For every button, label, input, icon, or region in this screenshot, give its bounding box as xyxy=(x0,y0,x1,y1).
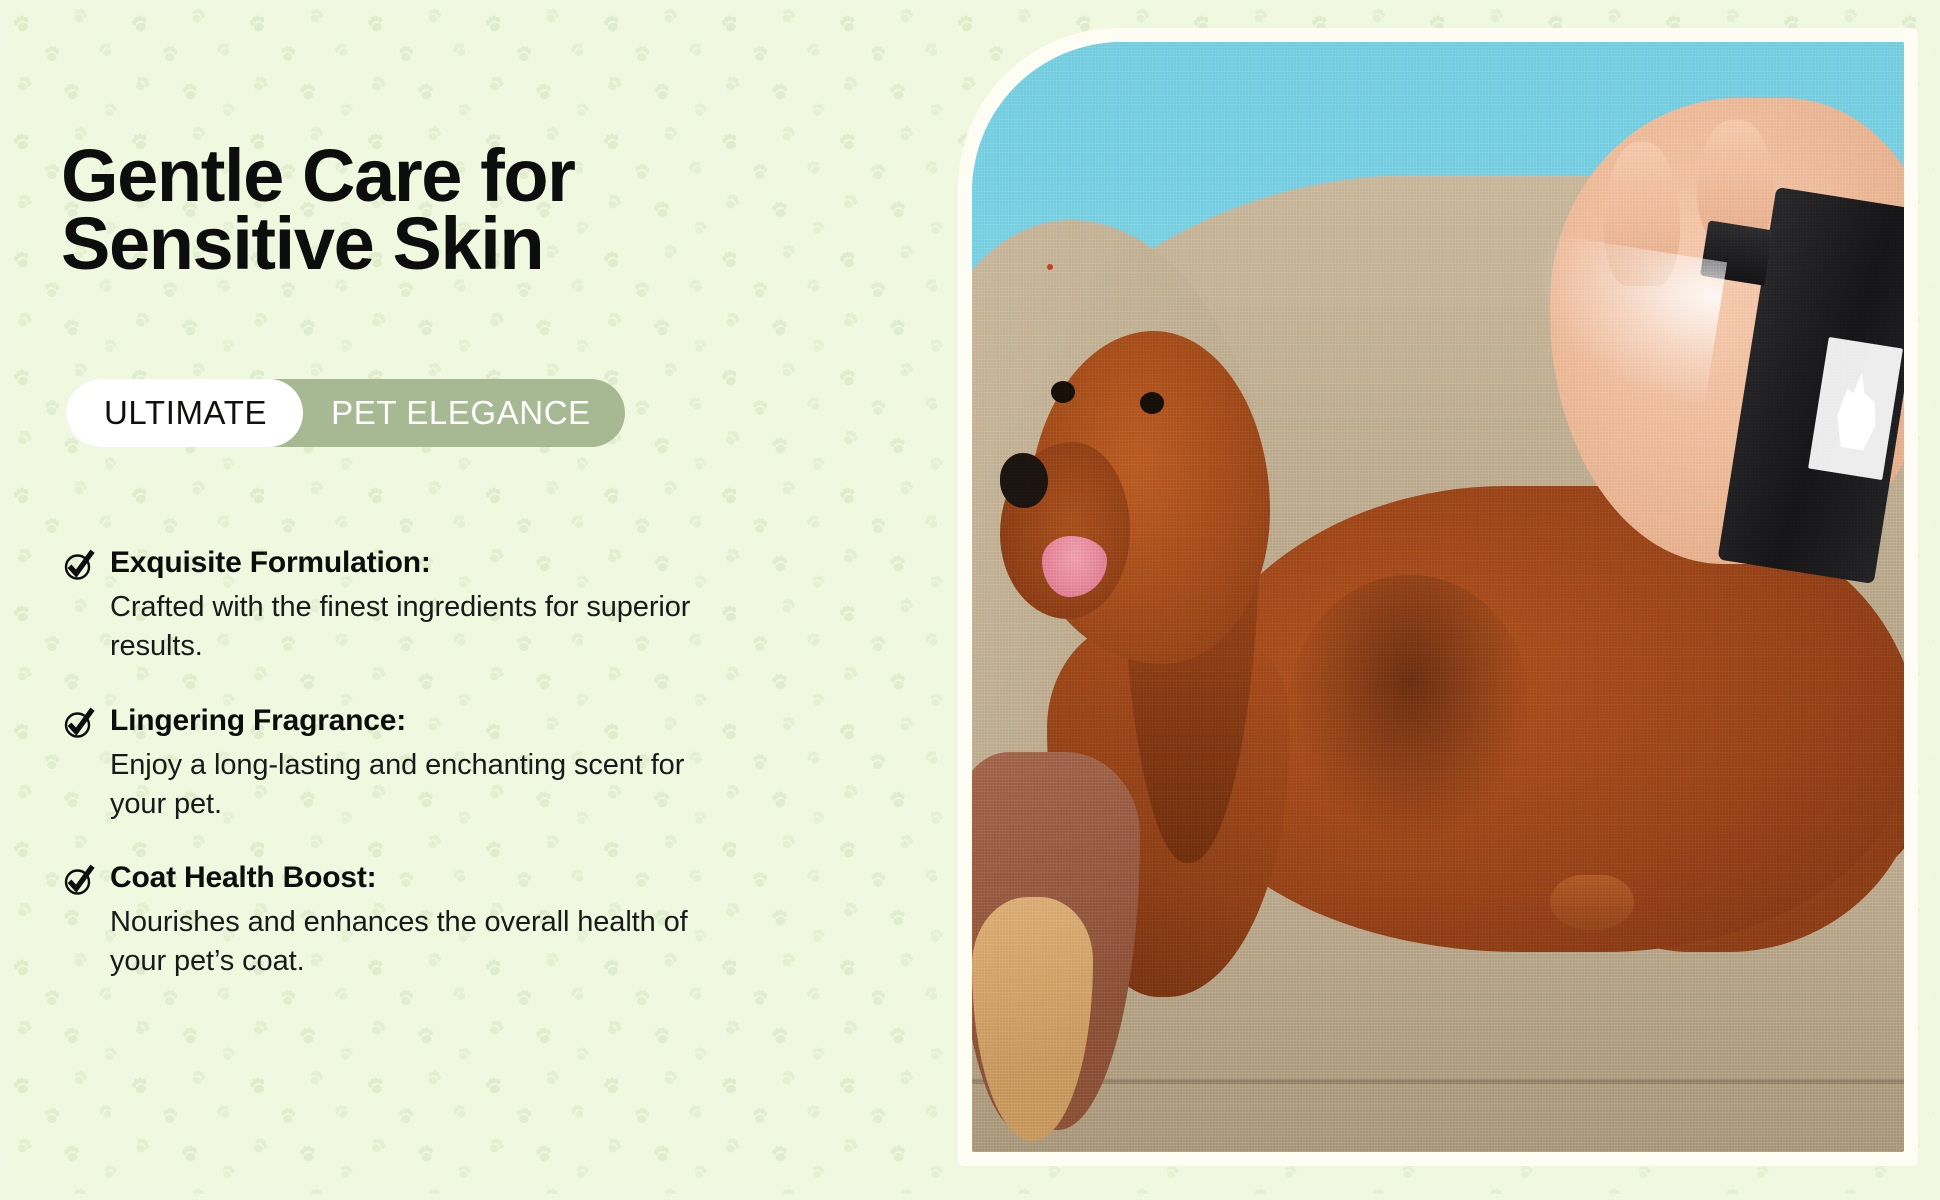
photo-dog-eye-left xyxy=(1051,381,1075,403)
photo-dog-nose xyxy=(1000,453,1048,509)
feature-title: Lingering Fragrance: xyxy=(110,704,406,739)
photo-dog-saddle-shading xyxy=(1289,575,1531,841)
photo-dog-eye-right xyxy=(1140,392,1164,414)
feature-description: Enjoy a long-lasting and enchanting scen… xyxy=(110,746,730,824)
list-item: Exquisite Formulation: Crafted with the … xyxy=(62,546,762,666)
check-circle-icon xyxy=(62,863,96,897)
feature-description: Nourishes and enhances the overall healt… xyxy=(110,903,730,981)
banner-card: Gentle Care for Sensitive Skin ULTIMATE … xyxy=(6,6,1934,1194)
feature-list: Exquisite Formulation: Crafted with the … xyxy=(62,546,762,981)
page-title: Gentle Care for Sensitive Skin xyxy=(61,142,781,278)
product-photo-frame xyxy=(958,28,1918,1166)
feature-title: Coat Health Boost: xyxy=(110,861,376,896)
badge-primary-label: ULTIMATE xyxy=(66,379,303,447)
feature-title: Exquisite Formulation: xyxy=(110,546,431,581)
photo-spray-nozzle xyxy=(1700,220,1773,285)
feature-heading-row: Exquisite Formulation: xyxy=(62,546,762,582)
feature-heading-row: Lingering Fragrance: xyxy=(62,704,762,740)
product-photo xyxy=(972,42,1904,1152)
list-item: Lingering Fragrance: Enjoy a long-lastin… xyxy=(62,704,762,824)
feature-description: Crafted with the finest ingredients for … xyxy=(110,588,730,666)
check-circle-icon xyxy=(62,706,96,740)
photo-red-speck xyxy=(1047,264,1053,270)
photo-dog-paw xyxy=(1550,875,1634,931)
left-content-column: Gentle Care for Sensitive Skin ULTIMATE … xyxy=(6,6,966,1194)
badge-secondary-label: PET ELEGANCE xyxy=(303,394,591,432)
list-item: Coat Health Boost: Nourishes and enhance… xyxy=(62,861,762,981)
check-circle-icon xyxy=(62,548,96,582)
feature-heading-row: Coat Health Boost: xyxy=(62,861,762,897)
photo-finger xyxy=(1604,142,1680,286)
photo-couch-seam xyxy=(972,1079,1904,1084)
promo-banner: Gentle Care for Sensitive Skin ULTIMATE … xyxy=(0,0,1940,1200)
status-badge: ULTIMATE PET ELEGANCE xyxy=(66,379,625,447)
